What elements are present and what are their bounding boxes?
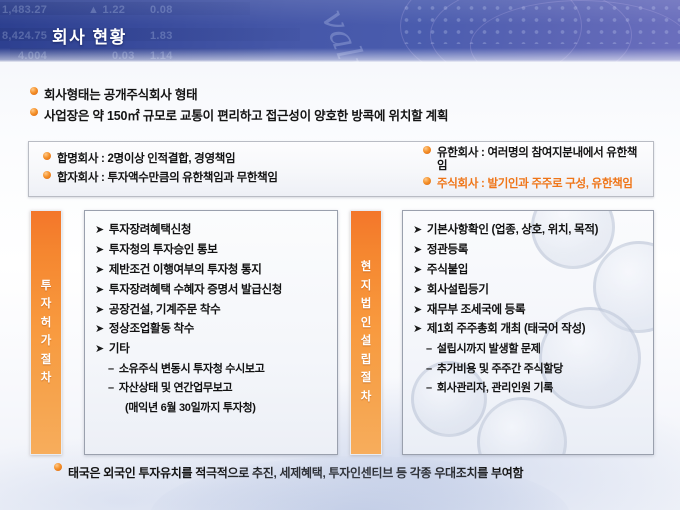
header-ticker-value: 1.83 bbox=[150, 30, 173, 42]
tab-local-corporation-setup-procedure[interactable]: 현지법인설립절차 bbox=[350, 210, 382, 455]
tab-label-char: 법 bbox=[361, 299, 372, 311]
procedure-step-text: 기타 bbox=[109, 343, 130, 356]
arrow-bullet-icon: ➤ bbox=[413, 323, 422, 335]
arrow-bullet-icon: ➤ bbox=[413, 284, 422, 296]
arrow-bullet-icon: ➤ bbox=[95, 224, 104, 236]
company-types-box: 합명회사 : 2명이상 인적결합, 경영책임합자회사 : 투자액수만큼의 유한책… bbox=[28, 141, 654, 197]
procedure-substep: –추가비용 및 주주간 주식할당 bbox=[426, 363, 645, 375]
dash-bullet-icon: – bbox=[426, 343, 432, 355]
procedure-substep: –설립시까지 발생할 문제 bbox=[426, 343, 645, 355]
procedure-substep-text: 자산상태 및 연간업무보고 bbox=[119, 382, 233, 394]
procedure-step-text: 기본사항확인 (업종, 상호, 위치, 목적) bbox=[427, 224, 598, 237]
procedure-step-text: 투자청의 투자승인 통보 bbox=[109, 244, 218, 257]
tab-label-char: 자 bbox=[41, 299, 52, 311]
bullet-dot-icon bbox=[423, 177, 431, 185]
tab-label-char: 지 bbox=[361, 281, 372, 293]
slide-canvas: value 1,483.27▲ 1.220.088,424.7571.834.0… bbox=[0, 0, 680, 510]
company-type-item: 합명회사 : 2명이상 인적결합, 경영책임 bbox=[43, 153, 423, 166]
arrow-bullet-icon: ➤ bbox=[95, 244, 104, 256]
procedure-step-text: 재무부 조세국에 등록 bbox=[427, 304, 525, 317]
intro-bullet-text: 회사형태는 공개주식회사 형태 bbox=[44, 88, 197, 102]
procedure-substep: –소유주식 변동시 투자청 수시보고 bbox=[108, 363, 329, 375]
procedure-step-text: 회사설립등기 bbox=[427, 284, 489, 297]
slide-header: value 1,483.27▲ 1.220.088,424.7571.834.0… bbox=[0, 0, 680, 62]
arrow-bullet-icon: ➤ bbox=[413, 224, 422, 236]
bullet-dot-icon bbox=[30, 108, 38, 116]
procedure-step-text: 정관등록 bbox=[427, 244, 468, 257]
dash-bullet-icon: – bbox=[426, 382, 432, 394]
panel-local-corporation-setup-procedure: ➤기본사항확인 (업종, 상호, 위치, 목적)➤정관등록➤주식불입➤회사설립등… bbox=[402, 210, 654, 455]
procedure-step-text: 제1회 주주총회 개최 (태국어 작성) bbox=[427, 323, 585, 336]
procedure-substep: –회사관리자, 관리인원 기록 bbox=[426, 382, 645, 394]
company-type-item: 주식회사 : 발기인과 주주로 구성, 유한책임 bbox=[423, 178, 641, 191]
procedure-step: ➤투자장려혜택신청 bbox=[95, 224, 329, 237]
bullet-dot-icon bbox=[30, 87, 38, 95]
tab-label-char: 투 bbox=[41, 281, 52, 293]
procedure-step-text: 투자장려혜택신청 bbox=[109, 224, 191, 237]
header-fade bbox=[0, 48, 680, 62]
panel-investment-permit-procedure: ➤투자장려혜택신청➤투자청의 투자승인 통보➤제반조건 이행여부의 투자청 통지… bbox=[84, 210, 338, 455]
header-ticker-value: ▲ 1.22 bbox=[88, 4, 125, 16]
tab-label-char: 립 bbox=[361, 355, 372, 367]
tab-label-char: 절 bbox=[41, 355, 52, 367]
procedure-substep-text: 설립시까지 발생할 문제 bbox=[437, 343, 541, 355]
tab-label-char: 차 bbox=[41, 373, 52, 385]
bullet-dot-icon bbox=[43, 152, 51, 160]
procedure-step: ➤제1회 주주총회 개최 (태국어 작성) bbox=[413, 323, 645, 336]
intro-bullet-text: 사업장은 약 150㎡ 규모로 교통이 편리하고 접근성이 양호한 방콕에 위치… bbox=[44, 109, 448, 123]
arrow-bullet-icon: ➤ bbox=[413, 244, 422, 256]
header-ticker-value: 1,483.27 bbox=[2, 4, 47, 16]
procedure-step: ➤제반조건 이행여부의 투자청 통지 bbox=[95, 264, 329, 277]
arrow-bullet-icon: ➤ bbox=[413, 264, 422, 276]
company-types-left-column: 합명회사 : 2명이상 인적결합, 경영책임합자회사 : 투자액수만큼의 유한책… bbox=[29, 153, 423, 184]
dash-bullet-icon: – bbox=[426, 363, 432, 375]
arrow-bullet-icon: ➤ bbox=[95, 323, 104, 335]
tab-label-char: 절 bbox=[361, 373, 372, 385]
procedure-step: ➤정상조업활동 착수 bbox=[95, 323, 329, 336]
tab-investment-permit-procedure[interactable]: 투자허가절차 bbox=[30, 210, 62, 455]
page-title: 회사 현황 bbox=[52, 23, 127, 48]
procedure-step-text: 정상조업활동 착수 bbox=[109, 323, 194, 336]
tab-label-char: 차 bbox=[361, 392, 372, 404]
company-type-text: 유한회사 : 여러명의 참여지분내에서 유한책임 bbox=[437, 147, 641, 172]
arrow-bullet-icon: ➤ bbox=[95, 304, 104, 316]
procedure-step-text: 공장건설, 기계주문 착수 bbox=[109, 304, 220, 317]
procedure-step: ➤회사설립등기 bbox=[413, 284, 645, 297]
procedure-step: ➤투자장려혜택 수혜자 증명서 발급신청 bbox=[95, 284, 329, 297]
arrow-bullet-icon: ➤ bbox=[95, 264, 104, 276]
company-type-text: 합명회사 : 2명이상 인적결합, 경영책임 bbox=[57, 153, 235, 166]
procedure-substep-text: 회사관리자, 관리인원 기록 bbox=[437, 382, 553, 394]
intro-bullet-list: 회사형태는 공개주식회사 형태 사업장은 약 150㎡ 규모로 교통이 편리하고… bbox=[30, 88, 650, 131]
local-corporation-step-list: ➤기본사항확인 (업종, 상호, 위치, 목적)➤정관등록➤주식불입➤회사설립등… bbox=[403, 211, 653, 394]
procedure-step: ➤기타 bbox=[95, 343, 329, 356]
bullet-dot-icon bbox=[43, 171, 51, 179]
procedure-step: ➤공장건설, 기계주문 착수 bbox=[95, 304, 329, 317]
bullet-dot-icon bbox=[423, 146, 431, 154]
procedure-step: ➤투자청의 투자승인 통보 bbox=[95, 244, 329, 257]
procedure-step-text: 주식불입 bbox=[427, 264, 468, 277]
header-ticker-value: 8,424.75 bbox=[2, 30, 47, 42]
procedure-step: ➤재무부 조세국에 등록 bbox=[413, 304, 645, 317]
procedure-step: ➤기본사항확인 (업종, 상호, 위치, 목적) bbox=[413, 224, 645, 237]
intro-bullet-item: 사업장은 약 150㎡ 규모로 교통이 편리하고 접근성이 양호한 방콕에 위치… bbox=[30, 109, 650, 123]
arrow-bullet-icon: ➤ bbox=[95, 343, 104, 355]
arrow-bullet-icon: ➤ bbox=[413, 304, 422, 316]
coin-decoration-icon bbox=[477, 397, 567, 455]
procedure-step: ➤주식불입 bbox=[413, 264, 645, 277]
procedure-substep-text: 소유주식 변동시 투자청 수시보고 bbox=[119, 363, 265, 375]
procedure-step-text: 투자장려혜택 수혜자 증명서 발급신청 bbox=[109, 284, 282, 297]
arrow-bullet-icon: ➤ bbox=[95, 284, 104, 296]
dash-bullet-icon: – bbox=[108, 382, 114, 394]
procedure-substep-text: 추가비용 및 주주간 주식할당 bbox=[437, 363, 563, 375]
procedure-continuation-text: (매익년 6월 30일까지 투자청) bbox=[125, 399, 329, 415]
company-type-item: 합자회사 : 투자액수만큼의 유한책임과 무한책임 bbox=[43, 172, 423, 185]
company-type-text: 주식회사 : 발기인과 주주로 구성, 유한책임 bbox=[437, 178, 633, 191]
tab-label-char: 허 bbox=[41, 318, 52, 330]
investment-permit-step-list: ➤투자장려혜택신청➤투자청의 투자승인 통보➤제반조건 이행여부의 투자청 통지… bbox=[85, 211, 337, 415]
company-type-item: 유한회사 : 여러명의 참여지분내에서 유한책임 bbox=[423, 147, 641, 172]
tab-label-char: 현 bbox=[361, 262, 372, 274]
intro-bullet-item: 회사형태는 공개주식회사 형태 bbox=[30, 88, 650, 102]
company-type-text: 합자회사 : 투자액수만큼의 유한책임과 무한책임 bbox=[57, 172, 278, 185]
dash-bullet-icon: – bbox=[108, 363, 114, 375]
company-types-right-column: 유한회사 : 여러명의 참여지분내에서 유한책임주식회사 : 발기인과 주주로 … bbox=[423, 147, 641, 191]
bullet-dot-icon bbox=[54, 463, 62, 471]
tab-label-char: 인 bbox=[361, 318, 372, 330]
procedure-substep: –자산상태 및 연간업무보고 bbox=[108, 382, 329, 394]
tab-label-char: 설 bbox=[361, 336, 372, 348]
procedure-step: ➤정관등록 bbox=[413, 244, 645, 257]
header-ticker-value: 0.08 bbox=[150, 4, 173, 16]
tab-label-char: 가 bbox=[41, 336, 52, 348]
procedure-step-text: 제반조건 이행여부의 투자청 통지 bbox=[109, 264, 262, 277]
